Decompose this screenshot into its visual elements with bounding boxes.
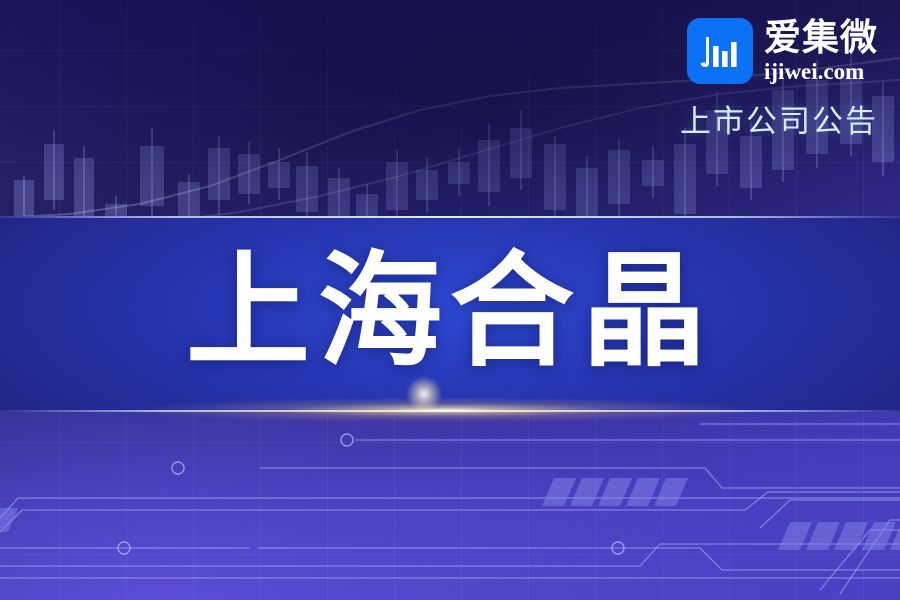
brand-subtitle: 上市公司公告 xyxy=(648,96,878,141)
brand-block: 爱集微 ijiwei.com 上市公司公告 xyxy=(648,18,878,141)
logo-glyph xyxy=(700,37,740,71)
brand-name-cn: 爱集微 xyxy=(764,19,878,56)
banner-top-edge-line xyxy=(0,216,900,218)
announcement-banner-image: 爱集微 ijiwei.com 上市公司公告 上海合晶 xyxy=(0,0,900,600)
banner-bottom-edge-line xyxy=(0,410,900,412)
brand-logo-row: 爱集微 ijiwei.com xyxy=(648,18,878,84)
title-banner: 上海合晶 xyxy=(0,216,900,412)
circuit-trace-decoration xyxy=(0,380,900,600)
brand-wordmark: 爱集微 ijiwei.com xyxy=(764,19,878,83)
page-title: 上海合晶 xyxy=(0,238,900,386)
ijiwei-bar-chart-logo-icon xyxy=(687,18,753,84)
lens-flare-core xyxy=(406,376,442,412)
brand-website: ijiwei.com xyxy=(764,60,864,83)
